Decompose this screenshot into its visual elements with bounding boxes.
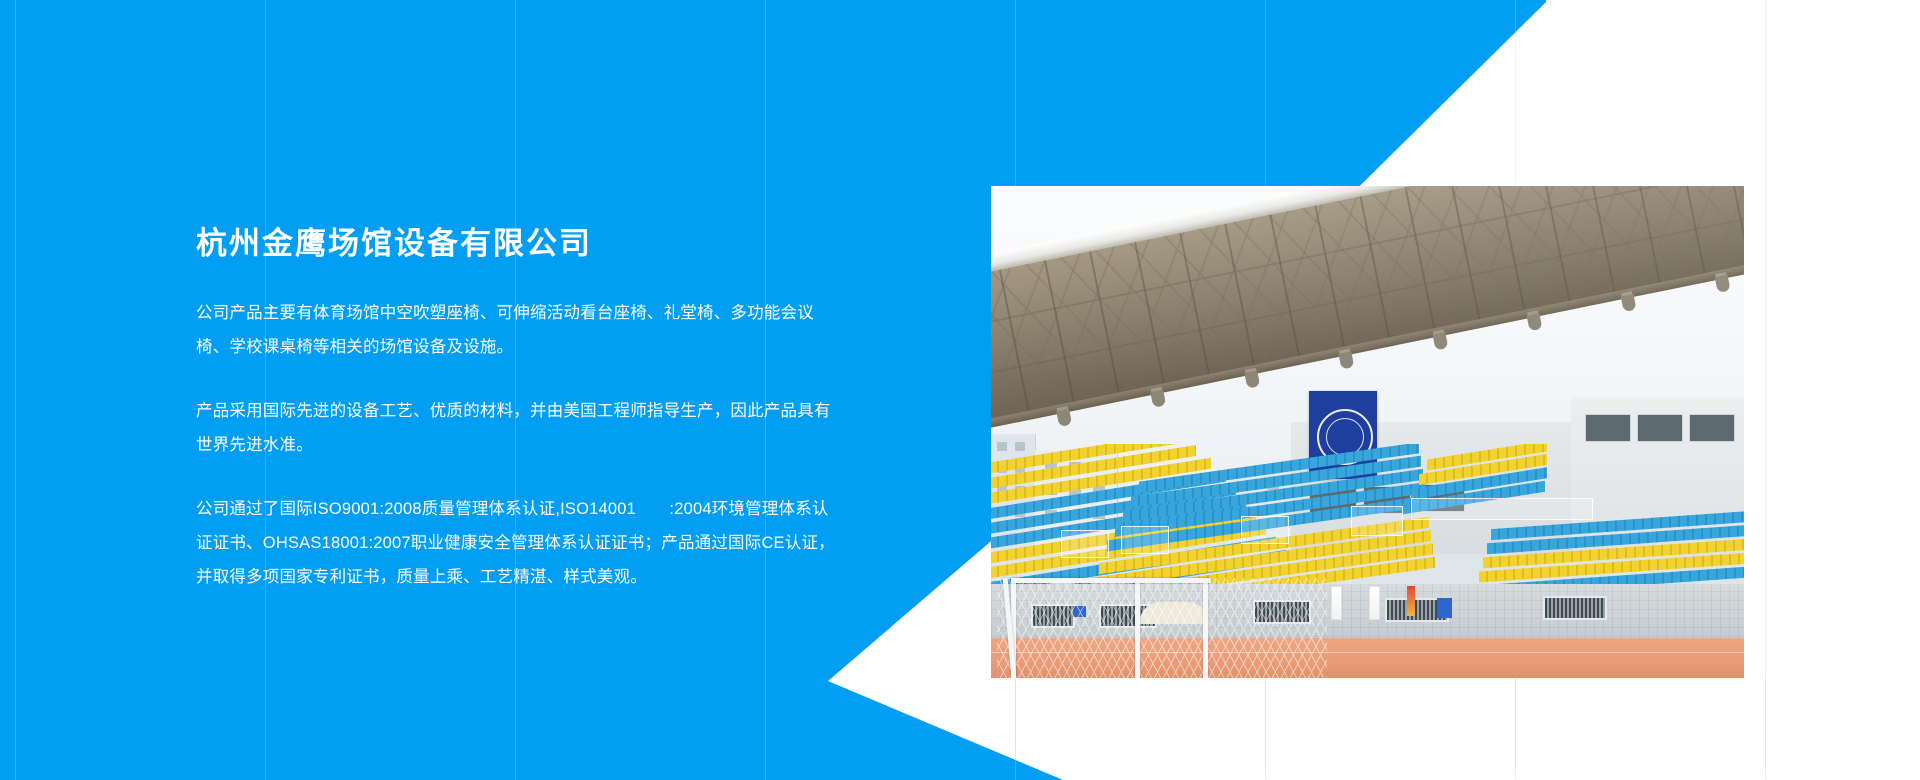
railing-b (1121, 526, 1169, 554)
pole-banner-c (1407, 586, 1415, 616)
page-title: 杭州金鹰场馆设备有限公司 (196, 225, 836, 262)
background-grid-below-photo (990, 678, 1920, 770)
hero-banner: 杭州金鹰场馆设备有限公司 公司产品主要有体育场馆中空吹塑座椅、可伸缩活动看台座椅… (0, 0, 1920, 780)
company-copy-block: 杭州金鹰场馆设备有限公司 公司产品主要有体育场馆中空吹塑座椅、可伸缩活动看台座椅… (196, 225, 836, 594)
railing-d (1351, 506, 1403, 536)
wayfinding-sign-b (1437, 598, 1452, 618)
company-paragraph-certifications: 公司通过了国际ISO9001:2008质量管理体系认证,ISO14001 :20… (196, 492, 836, 594)
soccer-goal (997, 578, 1327, 678)
pole-banner-b (1369, 586, 1380, 620)
railing-upper (1411, 498, 1593, 520)
railing-a (1061, 530, 1109, 558)
railing-c (1241, 516, 1289, 544)
pole-banner-a (1331, 586, 1342, 620)
company-paragraph-products: 公司产品主要有体育场馆中空吹塑座椅、可伸缩活动看台座椅、礼堂椅、多功能会议椅、学… (196, 296, 836, 364)
stadium-photo (991, 186, 1744, 678)
concourse-window-e (1543, 596, 1607, 620)
goal-net (997, 578, 1327, 678)
company-paragraph-technology: 产品采用国际先进的设备工艺、优质的材料，并由美国工程师指导生产，因此产品具有世界… (196, 394, 836, 462)
